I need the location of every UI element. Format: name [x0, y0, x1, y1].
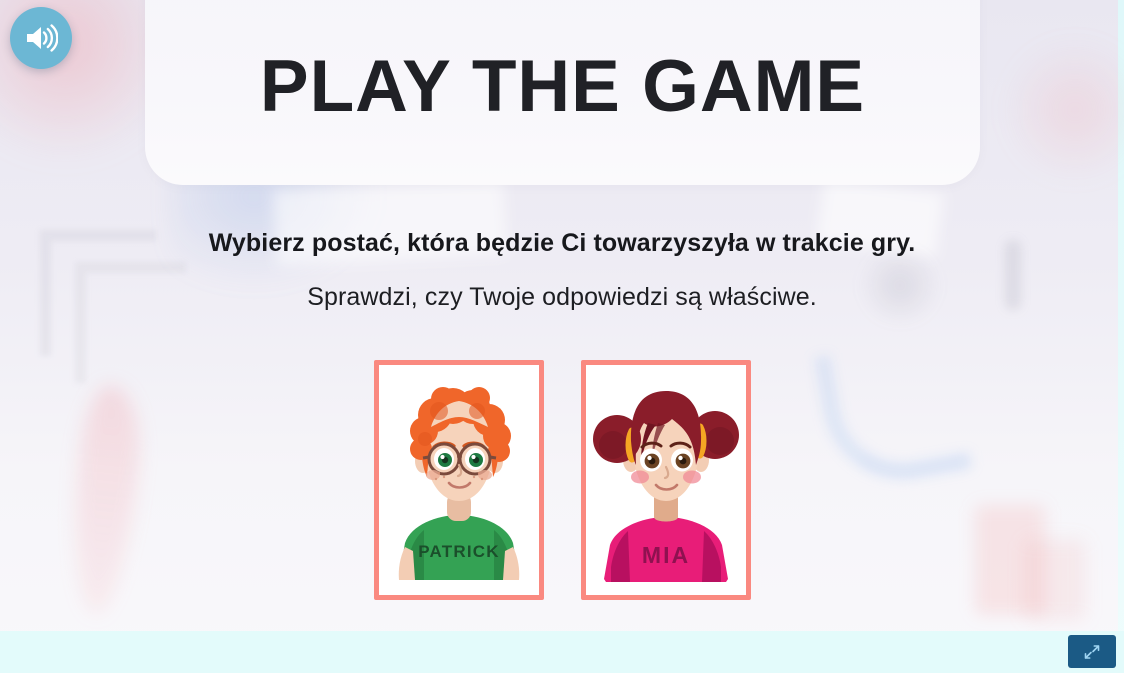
patrick-portrait: PATRICK [379, 365, 539, 595]
game-screen: PLAY THE GAME Wybierz postać, która będz… [0, 0, 1124, 673]
fullscreen-button[interactable] [1068, 635, 1116, 668]
instruction-secondary: Sprawdzi, czy Twoje odpowiedzi są właści… [0, 282, 1124, 312]
page-title: PLAY THE GAME [260, 50, 865, 123]
mia-portrait: MIA [586, 365, 746, 595]
character-card-mia[interactable]: MIA [581, 360, 751, 600]
sound-toggle-button[interactable] [10, 7, 72, 69]
instruction-primary: Wybierz postać, która będzie Ci towarzys… [0, 228, 1124, 258]
speaker-on-icon [24, 23, 58, 53]
header-card: PLAY THE GAME [145, 0, 980, 185]
character-card-patrick[interactable]: PATRICK [374, 360, 544, 600]
mia-shirt-name: MIA [641, 542, 689, 568]
expand-fullscreen-icon [1083, 643, 1101, 661]
bottom-bar [0, 631, 1124, 673]
patrick-shirt-name: PATRICK [418, 542, 499, 561]
character-choice-list: PATRICK [0, 360, 1124, 600]
instructions-block: Wybierz postać, która będzie Ci towarzys… [0, 228, 1124, 312]
